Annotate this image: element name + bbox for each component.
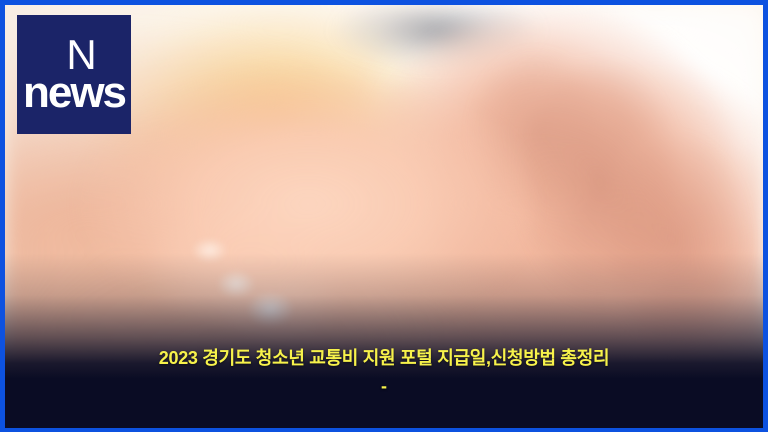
headline-block: 2023 경기도 청소년 교통비 지원 포털 지급일,신청방법 총정리 - [5, 344, 763, 400]
news-thumbnail-card: N news 2023 경기도 청소년 교통비 지원 포털 지급일,신청방법 총… [0, 0, 768, 432]
logo-wordmark: news [23, 71, 125, 115]
bottom-gradient-scrim [5, 253, 763, 428]
headline-line-2: - [19, 372, 749, 400]
headline-line-1: 2023 경기도 청소년 교통비 지원 포털 지급일,신청방법 총정리 [19, 344, 749, 372]
channel-logo[interactable]: N news [17, 15, 131, 134]
